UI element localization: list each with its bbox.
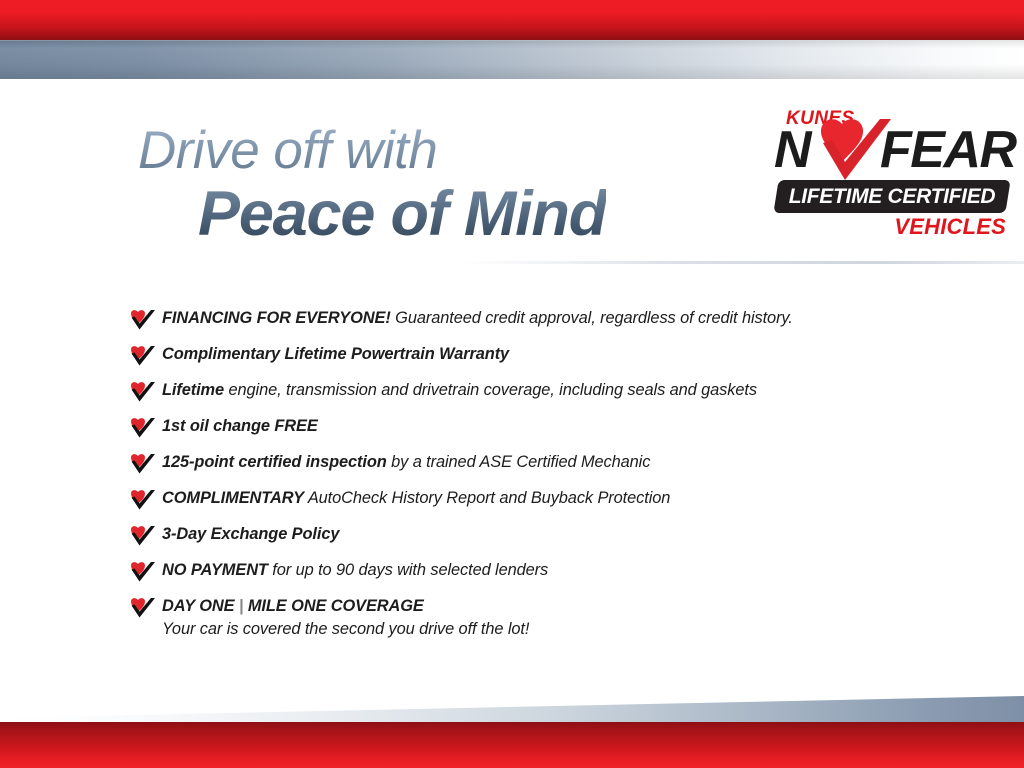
benefit-text: Lifetime engine, transmission and drivet… [162, 380, 950, 401]
headline-line-one: Drive off with [138, 124, 606, 177]
heart-check-icon [130, 489, 156, 511]
benefit-text: Complimentary Lifetime Powertrain Warran… [162, 344, 950, 365]
heart-check-icon [130, 345, 156, 367]
logo-lifetime-certified-text: LIFETIME CERTIFIED [776, 180, 1008, 213]
benefit-text: FINANCING FOR EVERYONE! Guaranteed credi… [162, 308, 950, 329]
benefit-item: FINANCING FOR EVERYONE! Guaranteed credi… [130, 308, 950, 331]
benefits-list: FINANCING FOR EVERYONE! Guaranteed credi… [130, 308, 950, 652]
bottom-red-band [0, 722, 1024, 768]
benefit-item: DAY ONE | MILE ONE COVERAGEYour car is c… [130, 596, 950, 639]
benefit-item: 3-Day Exchange Policy [130, 524, 950, 547]
benefit-detail: for up to 90 days with selected lenders [268, 561, 548, 579]
benefit-detail: AutoCheck History Report and Buyback Pro… [304, 489, 670, 507]
headline-line-two: Peace of Mind [198, 181, 606, 247]
headline-divider [0, 261, 1024, 264]
heart-check-icon [130, 417, 156, 439]
benefit-lead: DAY ONE | MILE ONE COVERAGE [162, 597, 424, 615]
benefit-text: 125-point certified inspection by a trai… [162, 452, 950, 473]
benefit-lead: 3-Day Exchange Policy [162, 525, 339, 543]
top-red-band [0, 0, 1024, 40]
heart-check-icon [130, 453, 156, 475]
bottom-gray-gradient-band [0, 696, 1024, 724]
benefit-detail: Guaranteed credit approval, regardless o… [391, 309, 793, 327]
benefit-item: NO PAYMENT for up to 90 days with select… [130, 560, 950, 583]
heart-check-icon [130, 597, 156, 619]
logo-vehicles-text: VEHICLES [894, 214, 1006, 240]
benefit-separator: | [239, 597, 244, 615]
benefit-lead: NO PAYMENT [162, 561, 268, 579]
heart-check-icon [130, 381, 156, 403]
benefit-subtext: Your car is covered the second you drive… [162, 619, 950, 640]
kunes-no-fear-logo: KUNES N FEAR LIFETIME CERTIFIED VEHICLES [772, 108, 1010, 246]
benefit-lead: Complimentary Lifetime Powertrain Warran… [162, 345, 509, 363]
logo-no-fear-wordmark: N FEAR [772, 124, 1010, 180]
logo-letter-n: N [774, 124, 810, 176]
benefit-text: COMPLIMENTARY AutoCheck History Report a… [162, 488, 950, 509]
benefit-text: 3-Day Exchange Policy [162, 524, 950, 545]
benefit-text: NO PAYMENT for up to 90 days with select… [162, 560, 950, 581]
heart-check-icon [130, 309, 156, 331]
headline-block: Drive off with Peace of Mind [138, 124, 606, 247]
heart-check-icon [130, 525, 156, 547]
benefit-item: COMPLIMENTARY AutoCheck History Report a… [130, 488, 950, 511]
benefit-text: 1st oil change FREE [162, 416, 950, 437]
benefit-detail: by a trained ASE Certified Mechanic [387, 453, 651, 471]
benefit-lead: FINANCING FOR EVERYONE! [162, 309, 391, 327]
top-gray-band-shading [0, 40, 1024, 79]
heart-check-icon [130, 561, 156, 583]
logo-word-fear: FEAR [880, 124, 1016, 176]
benefit-item: 125-point certified inspection by a trai… [130, 452, 950, 475]
benefit-lead: COMPLIMENTARY [162, 489, 304, 507]
benefit-item: Lifetime engine, transmission and drivet… [130, 380, 950, 403]
benefit-lead: Lifetime [162, 381, 224, 399]
benefit-item: 1st oil change FREE [130, 416, 950, 439]
benefit-lead: 125-point certified inspection [162, 453, 387, 471]
benefit-item: Complimentary Lifetime Powertrain Warran… [130, 344, 950, 367]
benefit-text: DAY ONE | MILE ONE COVERAGEYour car is c… [162, 596, 950, 639]
benefit-lead: 1st oil change FREE [162, 417, 318, 435]
benefit-detail: engine, transmission and drivetrain cove… [224, 381, 757, 399]
